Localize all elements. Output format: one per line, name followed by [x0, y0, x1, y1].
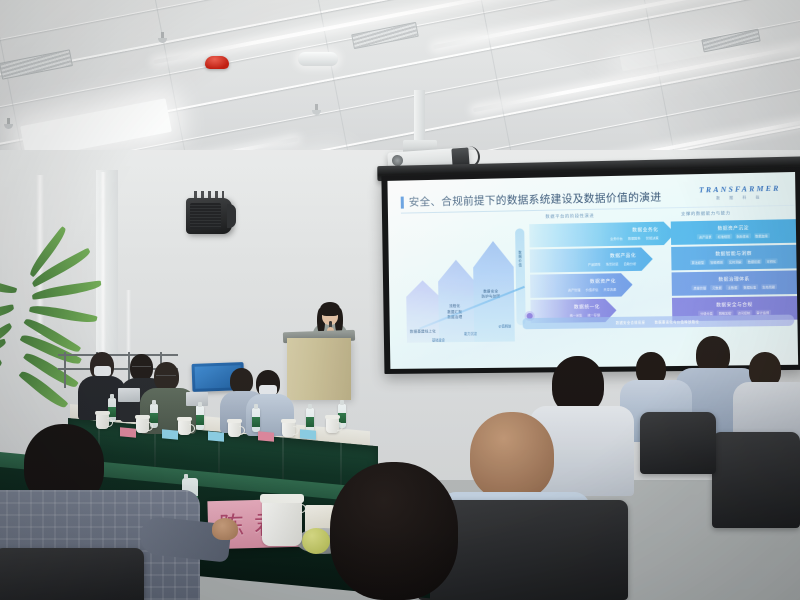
column-header-right: 支撑的数据能力与能力: [681, 210, 731, 217]
place-card: [120, 427, 136, 437]
water-bottle: [306, 408, 314, 432]
place-card: [162, 429, 178, 439]
capability-heading: 数据资产沉淀: [718, 225, 749, 232]
capability-tag: 标准规范: [716, 234, 732, 239]
water-bottle: [252, 408, 260, 432]
laptop: [118, 388, 140, 402]
axis-stage-label: 价值释放: [498, 323, 511, 328]
glasses-icon: [132, 366, 151, 370]
foundation-bar-item: 数据要素化与价值释放路径: [655, 319, 700, 325]
capability-heading: 数据智能与洞察: [715, 251, 752, 258]
laptop: [186, 392, 208, 406]
diagram-row: 数据资产化 资产管理 价值评估 共享流通 数据治理体系: [530, 270, 797, 299]
place-card: [258, 431, 274, 441]
capability-tag: 指标体系: [735, 233, 751, 238]
wall-speaker: [186, 198, 232, 234]
sprinkler-head: [4, 118, 13, 130]
capability-tag: 实时洞察: [727, 259, 743, 264]
chevron-tag: 场景封装: [606, 261, 619, 266]
chevron-arrow: 数据业务化 业务中台 数据服务 智能决策: [529, 221, 675, 247]
chair: [0, 548, 144, 600]
chevron-rows: 数据业务化 业务中台 数据服务 智能决策 数据资产沉淀: [529, 219, 797, 329]
podium: [287, 338, 351, 400]
wall-light-reflection: [126, 290, 131, 360]
place-card: [208, 431, 224, 441]
slide-diagram: 数据基建线上化 流程化 数据汇聚 数据治理 数据安全 防护与加固 数据价值 数据…: [400, 217, 798, 347]
face-mask: [94, 366, 111, 376]
ceramic-mug: [262, 500, 302, 546]
ceramic-mug: [96, 414, 109, 429]
chevron-arrow: 数据资产化 资产管理 价值评估 共享流通: [530, 273, 633, 298]
ceramic-mug: [326, 418, 339, 433]
dome-light: [298, 52, 338, 66]
brand-name: TRANSFARMER: [699, 184, 781, 195]
title-accent-bar: [401, 196, 404, 208]
chevron-heading: 数据统一化: [569, 304, 600, 310]
chevron-tag: 资产管理: [568, 287, 581, 292]
speaker-grille: [190, 203, 221, 229]
brand-subtitle: 数 据 科 技: [699, 195, 781, 202]
capability-tag: 算法模型: [690, 260, 706, 265]
chevron-tag: 业务中台: [610, 236, 623, 241]
capability-tag: 数据标准: [742, 284, 758, 289]
capability-tag: 主数据: [726, 285, 739, 290]
capability-heading: 数据治理体系: [718, 276, 749, 283]
slide-title: 安全、合规前提下的数据系统建设及数据价值的演进: [409, 189, 662, 209]
company-logo: TRANSFARMER 数 据 科 技: [699, 184, 781, 202]
projector-pole: [414, 90, 425, 146]
axis-stage-label: 基础建设: [432, 337, 445, 342]
capability-block: 数据资产沉淀 资产目录 标准规范 指标体系 数据血缘: [671, 219, 796, 245]
value-axis-label: 数据价值: [517, 251, 522, 268]
ceramic-mug: [178, 420, 191, 435]
chevron-tag: 智能决策: [646, 235, 659, 240]
place-card: [300, 429, 316, 439]
capability-tag: 智能预测: [709, 259, 725, 264]
ceramic-mug: [282, 422, 295, 437]
chevron-heading: 数据业务化: [610, 227, 659, 234]
column-header-left: 数据平台的阶段性演进: [545, 213, 594, 220]
chevron-heading: 数据产品化: [588, 253, 636, 260]
chevron-tag: 价值评估: [586, 287, 599, 292]
projection-screen: 安全、合规前提下的数据系统建设及数据价值的演进 TRANSFARMER 数 据 …: [381, 167, 800, 384]
foreground-head: [330, 462, 458, 600]
sprinkler-head: [312, 104, 321, 116]
ceramic-mug: [136, 418, 149, 433]
chevron-tag: 共享流通: [603, 286, 616, 291]
presentation-slide: 安全、合规前提下的数据系统建设及数据价值的演进 TRANSFARMER 数 据 …: [387, 172, 798, 369]
capability-tag: 数据挖掘: [746, 259, 762, 264]
capability-tag: 生命周期: [761, 284, 777, 289]
capability-tag: 数据血缘: [754, 233, 770, 238]
pyramid-step-2: [438, 259, 476, 342]
conference-room-photo: 安全、合规前提下的数据系统建设及数据价值的演进 TRANSFARMER 数 据 …: [0, 0, 800, 600]
chair: [640, 412, 716, 474]
capability-block: 数据智能与洞察 算法模型 智能预测 实时洞察 数据挖掘 可视化: [671, 245, 796, 271]
screen-frame: 安全、合规前提下的数据系统建设及数据价值的演进 TRANSFARMER 数 据 …: [381, 167, 800, 374]
water-bottle: [196, 406, 204, 430]
pyramid-label-1: 数据基建线上化: [408, 329, 438, 335]
glasses-icon: [156, 375, 176, 379]
foreground-hand: [212, 518, 238, 540]
chevron-arrow: 数据产品化 产品矩阵 场景封装 自助分析: [530, 247, 653, 272]
foundation-bar: 数据安全合规底座 数据要素化与价值释放路径: [523, 315, 795, 330]
capability-tag: 可视化: [765, 258, 778, 263]
chevron-heading: 数据资产化: [568, 278, 616, 285]
presenter-hair-top: [320, 302, 340, 316]
chevron-tag: 产品矩阵: [588, 261, 601, 266]
capability-heading: 数据安全与合规: [716, 302, 753, 309]
capability-tag: 元数据: [711, 285, 724, 290]
fire-alarm-icon: [205, 56, 229, 69]
capability-block: 数据治理体系 质量管理 元数据 主数据 数据标准 生命周期: [672, 270, 797, 295]
ceramic-mug: [228, 422, 241, 437]
slide-title-row: 安全、合规前提下的数据系统建设及数据价值的演进: [401, 189, 662, 209]
sprinkler-head: [158, 32, 167, 44]
chevron-tag: 自助分析: [624, 261, 637, 266]
audience-head: [470, 412, 554, 500]
speaker-bracket: [227, 204, 236, 228]
capability-tag: 质量管理: [692, 285, 708, 290]
foundation-bar-item: 数据安全合规底座: [616, 320, 646, 325]
axis-stage-label: 能力沉淀: [464, 331, 477, 336]
capability-tag: 资产目录: [697, 234, 713, 239]
fruit-pear: [302, 528, 330, 554]
chevron-tag: 数据服务: [628, 235, 641, 240]
value-axis: 数据价值: [515, 228, 526, 325]
chair: [712, 432, 800, 528]
